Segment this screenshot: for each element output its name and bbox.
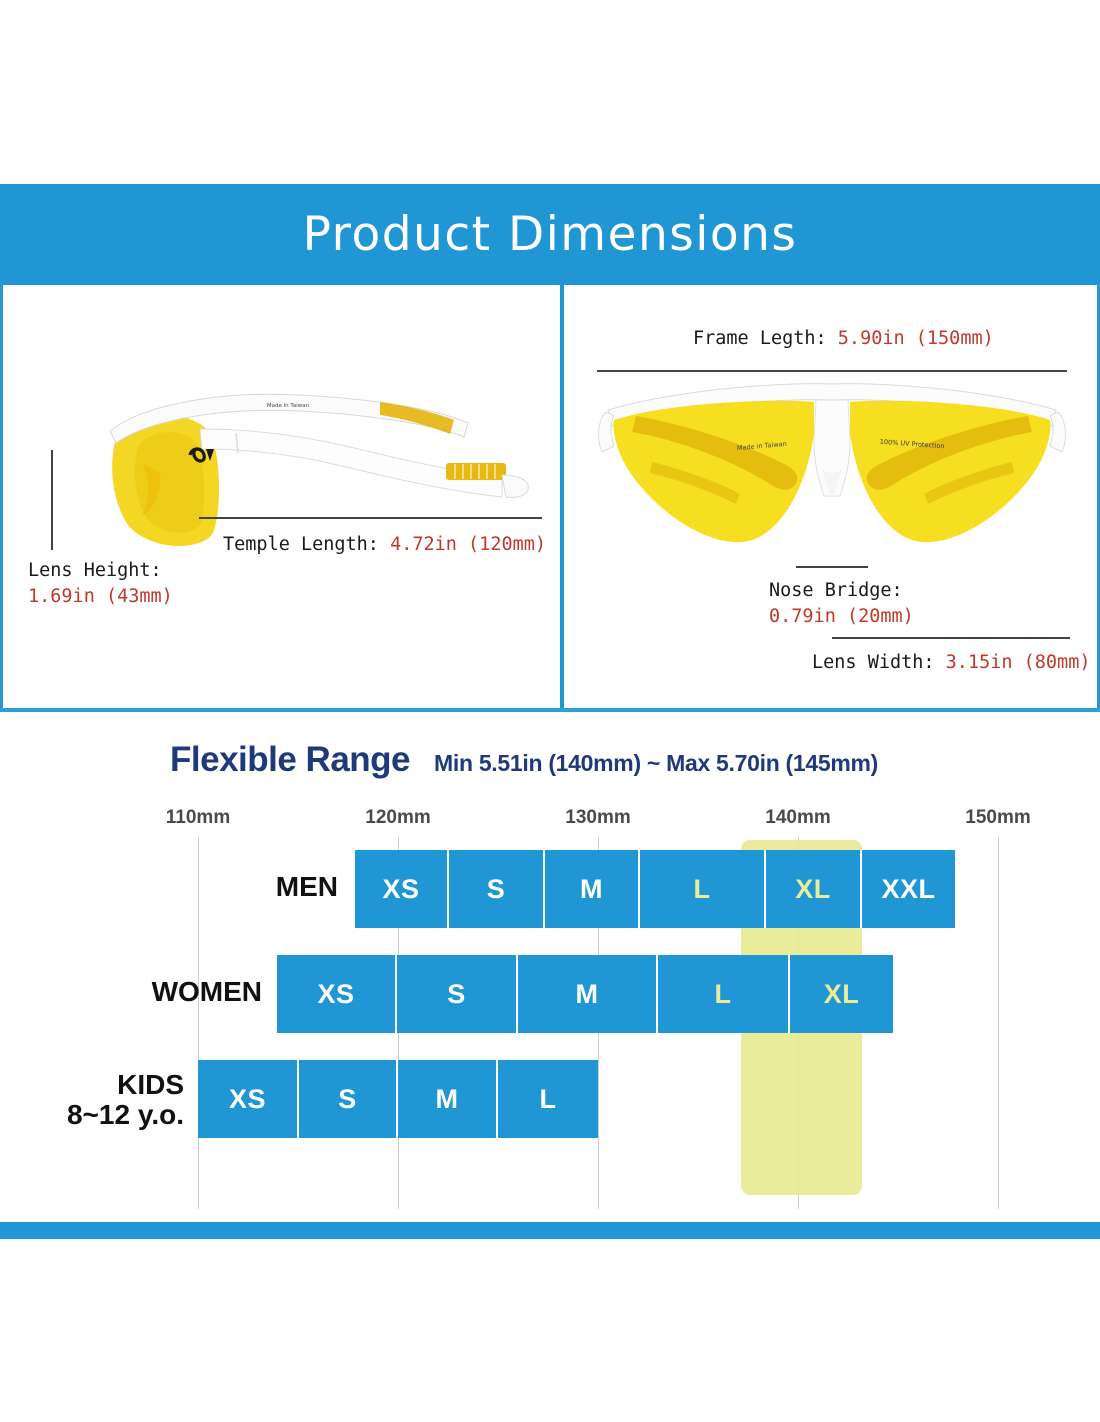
frame-length-rule (597, 370, 1067, 372)
size-segment-men-xs[interactable]: XS (355, 850, 449, 928)
frame-length-label: Frame Legth: 5.90in (150mm) (693, 328, 994, 349)
lens-width-label: Lens Width: 3.15in (80mm) (812, 652, 1090, 673)
size-row-kids-label-main: KIDS (67, 1070, 184, 1100)
size-segment-men-s[interactable]: S (449, 850, 545, 928)
flexible-range-title: Flexible Range (170, 740, 410, 780)
page-title: Product Dimensions (303, 207, 798, 262)
lens-width-value-text: 3.15in (80mm) (946, 652, 1091, 673)
frame-length-label-text: Frame Legth: (693, 328, 827, 349)
size-bar-women: XS S M L XL (277, 955, 893, 1033)
size-bar-kids: XS S M L (198, 1060, 598, 1138)
size-segment-women-xs[interactable]: XS (277, 955, 397, 1033)
nose-bridge-label-text: Nose Bridge: (769, 580, 903, 601)
temple-length-label-text: Temple Length: (223, 534, 379, 555)
size-segment-kids-s[interactable]: S (299, 1060, 398, 1138)
size-segment-kids-m[interactable]: M (398, 1060, 498, 1138)
size-segment-men-xxl[interactable]: XXL (862, 850, 955, 928)
lens-height-label: Lens Height: (28, 560, 162, 581)
size-row-kids-label-sub: 8~12 y.o. (67, 1100, 184, 1130)
dimension-panels: Made in Taiwan Lens Height: 1.69in (43mm… (0, 285, 1100, 710)
size-segment-women-s[interactable]: S (397, 955, 518, 1033)
flexible-range-subtitle: Min 5.51in (140mm) ~ Max 5.70in (145mm) (434, 750, 878, 777)
temple-length-value-text: 4.72in (120mm) (390, 534, 546, 555)
size-segment-women-m[interactable]: M (518, 955, 658, 1033)
nose-bridge-value-text: 0.79in (20mm) (769, 606, 914, 627)
size-row-kids: KIDS 8~12 y.o. XS S M L (0, 1060, 1100, 1138)
page-header-band: Product Dimensions (0, 184, 1100, 285)
size-segment-men-l[interactable]: L (640, 850, 766, 928)
size-segment-kids-xs[interactable]: XS (198, 1060, 299, 1138)
size-bar-men: XS S M L XL XXL (355, 850, 955, 928)
size-row-women-label: WOMEN (152, 977, 262, 1007)
size-segment-women-l[interactable]: L (658, 955, 790, 1033)
size-scale: 110mm 120mm 130mm 140mm 150mm MEN XS S M… (0, 807, 1100, 1207)
size-segment-men-m[interactable]: M (545, 850, 640, 928)
lens-width-rule (832, 637, 1070, 639)
nose-bridge-label: Nose Bridge: (769, 580, 903, 601)
size-rows: MEN XS S M L XL XXL WOMEN XS S M L (0, 807, 1100, 1207)
flexible-range-section: Flexible Range Min 5.51in (140mm) ~ Max … (0, 712, 1100, 1222)
temple-length-rule (199, 517, 542, 519)
nose-bridge-value: 0.79in (20mm) (769, 606, 914, 627)
size-row-women: WOMEN XS S M L XL (0, 955, 1100, 1033)
size-segment-men-xl[interactable]: XL (766, 850, 862, 928)
size-segment-women-xl[interactable]: XL (790, 955, 893, 1033)
size-row-men-label: MEN (276, 872, 338, 902)
lens-width-label-text: Lens Width: (812, 652, 935, 673)
flexible-range-heading: Flexible Range Min 5.51in (140mm) ~ Max … (170, 740, 878, 780)
frame-length-value-text: 5.90in (150mm) (838, 328, 994, 349)
lens-height-label-text: Lens Height: (28, 560, 162, 581)
svg-text:Made in Taiwan: Made in Taiwan (267, 403, 310, 409)
panel-vertical-divider (560, 285, 564, 710)
page-footer-band (0, 1222, 1100, 1239)
lens-height-rule (51, 450, 53, 550)
size-row-men: MEN XS S M L XL XXL (0, 850, 1100, 928)
size-segment-kids-l[interactable]: L (498, 1060, 598, 1138)
nose-bridge-rule (796, 566, 868, 568)
lens-height-value-text: 1.69in (43mm) (28, 586, 173, 607)
size-row-kids-label: KIDS 8~12 y.o. (67, 1070, 184, 1129)
sunglasses-front-view-image: Made in Taiwan 100% UV Protection (592, 380, 1072, 580)
temple-length-label: Temple Length: 4.72in (120mm) (223, 534, 546, 555)
lens-height-value: 1.69in (43mm) (28, 586, 173, 607)
